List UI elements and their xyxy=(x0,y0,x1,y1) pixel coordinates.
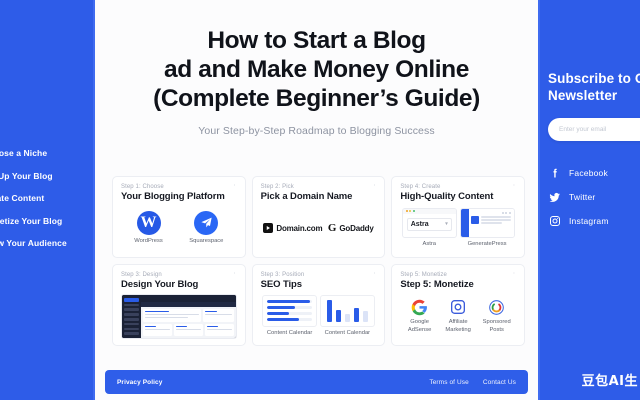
sidebar-item-create-content[interactable]: Create Content xyxy=(0,193,95,203)
monetize-item-google-adsense[interactable]: Google AdSense xyxy=(401,298,439,333)
footer-contact-us-link[interactable]: Contact Us xyxy=(483,379,516,386)
newsletter-heading-line2: Newsletter xyxy=(548,88,617,103)
card-step-label: Step 3: Design xyxy=(121,272,237,278)
newsletter-heading-line1: Subscribe to Our xyxy=(548,71,640,86)
card-high-quality-content[interactable]: ⋅ Step 4: Create High-Quality Content As… xyxy=(391,176,525,258)
email-input[interactable] xyxy=(548,118,640,141)
logo-caption: Domain.com xyxy=(276,224,322,233)
social-label-facebook: Facebook xyxy=(569,168,608,178)
card-title: SEO Tips xyxy=(261,279,377,290)
logo-caption: Squarespace xyxy=(189,238,223,245)
hero-section: How to Start a Blog ad and Make Money On… xyxy=(95,0,538,137)
left-sidebar-nav: Choose a Niche Set Up Your Blog Create C… xyxy=(0,148,95,261)
logo-caption: GoDaddy xyxy=(339,224,373,233)
logo-item-godaddy[interactable]: G GoDaddy xyxy=(328,222,374,234)
astra-select[interactable]: Astra ▾ xyxy=(407,218,452,231)
card-title: Pick a Domain Name xyxy=(261,191,377,202)
monetize-caption: Google AdSense xyxy=(401,319,439,333)
astra-select-value: Astra xyxy=(411,221,429,228)
monetize-caption: Sponsored Posts xyxy=(478,319,516,333)
wordpress-logo: W xyxy=(137,211,161,235)
instagram-icon xyxy=(548,215,561,228)
card-title: High-Quality Content xyxy=(400,191,516,202)
google-logo xyxy=(411,298,429,316)
card-step-label: Step 1: Choose xyxy=(121,184,237,190)
social-link-twitter[interactable]: Twitter xyxy=(548,191,640,204)
logo-caption: WordPress xyxy=(134,238,163,245)
card-corner-icon: ⋅ xyxy=(373,272,377,276)
page-title-line2: ad and Make Money Online xyxy=(113,55,520,84)
sidebar-item-choose-a-niche[interactable]: Choose a Niche xyxy=(0,148,95,158)
theme-caption: GeneratePress xyxy=(468,241,507,248)
page-subtitle: Your Step-by-Step Roadmap to Blogging Su… xyxy=(113,125,520,137)
domaincom-logo xyxy=(263,223,273,233)
godaddy-logo: G xyxy=(328,222,337,234)
footer-terms-of-use-link[interactable]: Terms of Use xyxy=(429,379,469,386)
seo-item-bar-chart[interactable]: Content Calendar xyxy=(320,295,375,337)
card-corner-icon: ⋅ xyxy=(234,184,238,188)
mini-bar-chart xyxy=(325,300,370,322)
social-label-instagram: Instagram xyxy=(569,216,609,226)
dashboard-preview xyxy=(121,294,237,339)
page-footer: Privacy Policy Terms of Use Contact Us xyxy=(105,370,528,394)
card-domain-name[interactable]: ⋅ Step 2: Pick Pick a Domain Name Domain… xyxy=(252,176,386,258)
card-step-label: Step 2: Pick xyxy=(261,184,377,190)
newsletter-heading: Subscribe to Our Newsletter xyxy=(548,70,640,105)
generatepress-theme-thumb xyxy=(460,208,515,238)
twitter-icon xyxy=(548,191,561,204)
card-title: Your Blogging Platform xyxy=(121,191,237,202)
sidebar-item-grow-your-audience[interactable]: Grow Your Audience xyxy=(0,238,95,248)
logo-item-squarespace[interactable]: Squarespace xyxy=(189,211,223,245)
monetize-item-sponsored-posts[interactable]: Sponsored Posts xyxy=(478,298,516,333)
main-content-panel: How to Start a Blog ad and Make Money On… xyxy=(93,0,540,400)
newsletter-sidebar: Subscribe to Our Newsletter Facebook Twi… xyxy=(548,70,640,239)
page-title-line3: (Complete Beginner’s Guide) xyxy=(113,84,520,113)
seo-caption: Content Calendar xyxy=(325,330,370,337)
social-label-twitter: Twitter xyxy=(569,192,595,202)
bar-chart-thumb xyxy=(320,295,375,327)
footer-privacy-policy-link[interactable]: Privacy Policy xyxy=(117,379,162,386)
card-corner-icon: ⋅ xyxy=(373,184,377,188)
sidebar-item-set-up-your-blog[interactable]: Set Up Your Blog xyxy=(0,171,95,181)
card-title: Step 5: Monetize xyxy=(400,279,516,290)
social-link-instagram[interactable]: Instagram xyxy=(548,215,640,228)
card-step-label: Step 5: Monetize xyxy=(400,272,516,278)
facebook-icon xyxy=(548,167,561,180)
theme-item-astra[interactable]: Astra ▾ Astra xyxy=(402,208,457,248)
card-corner-icon: ⋅ xyxy=(513,184,517,188)
monetize-caption: Affiliate Marketing xyxy=(439,319,477,333)
card-blogging-platform[interactable]: ⋅ Step 1: Choose Your Blogging Platform … xyxy=(112,176,246,258)
card-step-label: Step 4: Create xyxy=(400,184,516,190)
bar-list-thumb xyxy=(262,295,317,327)
monetize-item-affiliate-marketing[interactable]: Affiliate Marketing xyxy=(439,298,477,333)
social-links-list: Facebook Twitter Instagram xyxy=(548,167,640,228)
ring-chart-icon xyxy=(488,298,506,316)
sidebar-item-monetize-your-blog[interactable]: Monetize Your Blog xyxy=(0,216,95,226)
seo-item-bar-list[interactable]: Content Calendar xyxy=(262,295,317,337)
card-corner-icon: ⋅ xyxy=(234,272,238,276)
card-title: Design Your Blog xyxy=(121,279,237,290)
astra-theme-thumb: Astra ▾ xyxy=(402,208,457,238)
theme-caption: Astra xyxy=(422,241,436,248)
card-design-your-blog[interactable]: ⋅ Step 3: Design Design Your Blog xyxy=(112,264,246,346)
seo-caption: Content Calendar xyxy=(267,330,312,337)
page-title-line1: How to Start a Blog xyxy=(113,26,520,55)
logo-item-domaincom[interactable]: Domain.com xyxy=(263,223,322,233)
card-seo-tips[interactable]: ⋅ Step 3: Position SEO Tips Content Cale… xyxy=(252,264,386,346)
squarespace-logo xyxy=(194,211,218,235)
card-corner-icon: ⋅ xyxy=(513,272,517,276)
footer-links: Terms of Use Contact Us xyxy=(429,379,516,386)
logo-item-wordpress[interactable]: W WordPress xyxy=(134,211,163,245)
card-step-label: Step 3: Position xyxy=(261,272,377,278)
watermark-text: 豆包AI生 xyxy=(582,370,638,389)
chevron-down-icon: ▾ xyxy=(445,221,448,227)
social-link-facebook[interactable]: Facebook xyxy=(548,167,640,180)
theme-item-generatepress[interactable]: GeneratePress xyxy=(460,208,515,248)
page-title: How to Start a Blog ad and Make Money On… xyxy=(113,26,520,113)
instagram-square-icon xyxy=(449,298,467,316)
page-root: Choose a Niche Set Up Your Blog Create C… xyxy=(0,0,640,400)
card-monetize[interactable]: ⋅ Step 5: Monetize Step 5: Monetize xyxy=(391,264,525,346)
steps-card-grid: ⋅ Step 1: Choose Your Blogging Platform … xyxy=(112,176,525,346)
